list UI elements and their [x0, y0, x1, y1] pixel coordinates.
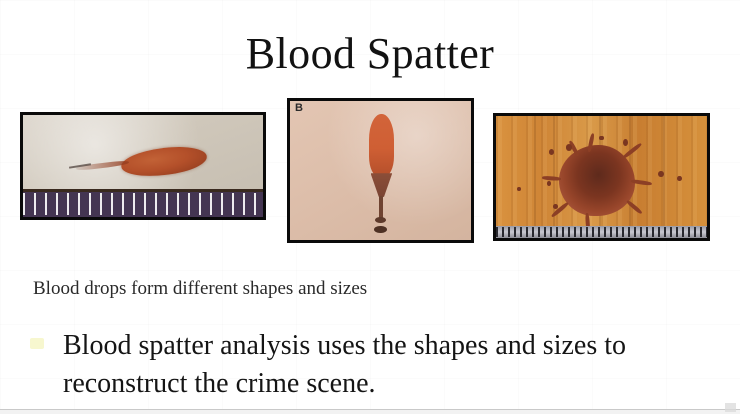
bullet-text: Blood spatter analysis uses the shapes a… — [63, 327, 723, 403]
bullet-marker-icon — [30, 338, 44, 349]
photo-1-ruler-edge — [23, 189, 263, 192]
photo-2-stain-stem — [379, 196, 383, 220]
photo-3-ruler-ticks — [496, 227, 707, 237]
photo-1-inner — [23, 115, 263, 217]
photo-3-satellite-drop — [547, 181, 551, 186]
slide-canvas: Blood Spatter B — [0, 0, 740, 414]
photo-3-satellite-drop — [517, 187, 521, 191]
image-elongated-blood-drop-with-tail — [20, 112, 266, 220]
corner-mark — [725, 403, 736, 412]
photo-3-inner — [496, 116, 707, 238]
photo-1-ruler-ticks — [23, 193, 263, 215]
photo-3-satellite-drop — [599, 136, 603, 141]
photo-2-inner: B — [290, 101, 471, 240]
photo-3-satellite-drop — [623, 139, 628, 146]
photo-3-satellite-drop — [566, 144, 573, 151]
bottom-shade-strip — [0, 410, 740, 414]
photo-3-satellite-drop — [658, 171, 663, 177]
photo-2-stain-bead-lower — [374, 226, 387, 233]
image-teardrop-blood-stain: B — [287, 98, 474, 243]
photo-3-ruler — [496, 226, 707, 238]
page-title: Blood Spatter — [0, 28, 740, 80]
photo-3-wood-grain — [553, 116, 555, 226]
photo-3-satellite-drop — [553, 204, 558, 209]
image-blood-spatter-on-wood — [493, 113, 710, 241]
photo-2-stain-bead-upper — [375, 217, 385, 223]
image-caption: Blood drops form different shapes and si… — [33, 276, 673, 302]
photo-2-stain-body — [369, 114, 394, 178]
photo-3-wood-grain — [534, 116, 536, 226]
photo-2-label: B — [295, 103, 303, 114]
photo-1-ruler — [23, 189, 263, 217]
